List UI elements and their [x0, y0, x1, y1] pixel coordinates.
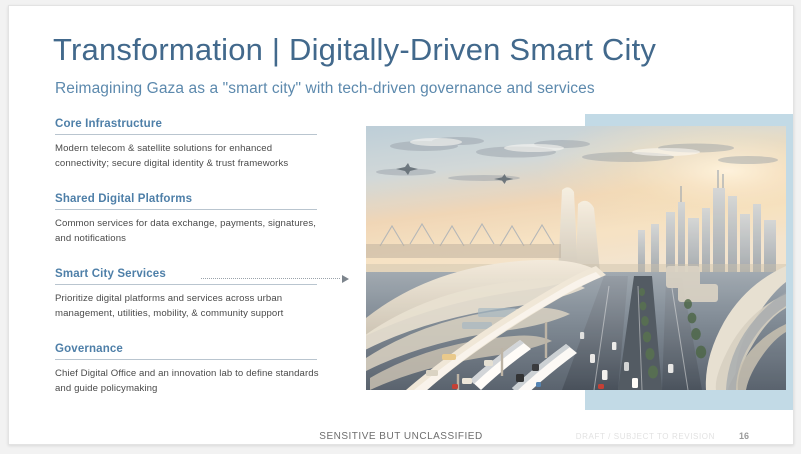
section-smart-city-services: Smart City Services Prioritize digital p… [55, 268, 355, 321]
section-heading: Core Infrastructure [55, 118, 355, 134]
section-divider [55, 359, 317, 360]
page-subtitle: Reimagining Gaza as a "smart city" with … [55, 80, 595, 98]
section-shared-digital-platforms: Shared Digital Platforms Common services… [55, 193, 355, 246]
section-divider [55, 134, 317, 135]
section-governance: Governance Chief Digital Office and an i… [55, 343, 355, 396]
section-list: Core Infrastructure Modern telecom & sat… [55, 118, 355, 410]
section-body: Prioritize digital platforms and service… [55, 292, 327, 321]
smart-city-illustration [366, 126, 786, 390]
section-body: Common services for data exchange, payme… [55, 217, 327, 246]
section-body: Chief Digital Office and an innovation l… [55, 367, 327, 396]
section-body: Modern telecom & satellite solutions for… [55, 142, 327, 171]
arrow-right-icon [342, 275, 349, 283]
footer-draft-notice: DRAFT / SUBJECT TO REVISION [576, 432, 715, 441]
dotted-connector-arrow-icon [201, 274, 349, 283]
page-title: Transformation | Digitally-Driven Smart … [53, 32, 656, 68]
footer-page-number: 16 [739, 431, 749, 441]
smart-city-photo [366, 126, 786, 390]
section-heading: Governance [55, 343, 355, 359]
slide-canvas: Transformation | Digitally-Driven Smart … [8, 5, 794, 445]
section-heading: Shared Digital Platforms [55, 193, 355, 209]
section-core-infrastructure: Core Infrastructure Modern telecom & sat… [55, 118, 355, 171]
section-divider [55, 209, 317, 210]
section-divider [55, 284, 317, 285]
connector-line [201, 278, 340, 279]
